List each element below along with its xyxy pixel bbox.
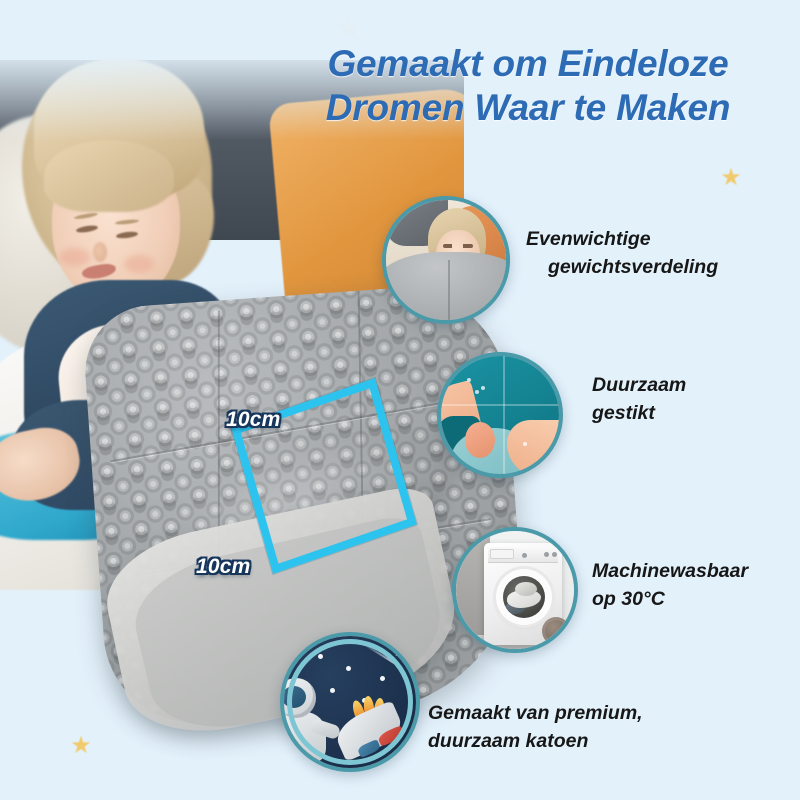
feature-1-line-2: gewichtsverdeling [526,254,718,282]
feature-3-line-2: op 30°C [592,586,748,614]
decorative-star-icon-2: ★ [718,165,744,191]
feature-2-line-1: Duurzaam [592,372,686,400]
feature-label-weight-distribution: Evenwichtige gewichtsverdeling [526,226,718,281]
feature-1-line-1: Evenwichtige [526,226,718,254]
feature-2-line-2: gestikt [592,400,686,428]
infographic-canvas: 10cm 10cm Gemaakt om Eindeloze Dromen Wa… [0,0,800,800]
page-title: Gemaakt om Eindeloze Dromen Waar te Make… [268,42,788,129]
page-title-line-1: Gemaakt om Eindeloze [327,43,728,84]
feature-label-machine-washable: Machinewasbaar op 30°C [592,558,748,613]
feature-label-premium-cotton: Gemaakt van premium, duurzaam katoen [428,700,643,755]
child-nose [93,242,107,262]
child-cheek-left [60,248,90,266]
feature-image-quilted-fabric [437,352,563,478]
dimension-label-bottom: 10cm [196,555,251,579]
dimension-label-top: 10cm [226,408,281,432]
page-title-line-2: Dromen Waar te Maken [268,86,788,130]
feature-label-durable-stitching: Duurzaam gestikt [592,372,686,427]
feature-3-line-1: Machinewasbaar [592,558,748,586]
feature-4-line-1: Gemaakt van premium, [428,700,643,728]
feature-image-washing-machine [452,527,578,653]
feature-image-child-under-blanket [382,196,510,324]
child-hair-fringe [44,140,174,212]
feature-image-space-print-fabric: ★ [280,632,420,772]
child-cheek-right [124,255,154,273]
decorative-star-icon-3: ★ [68,733,94,759]
feature-4-line-2: duurzaam katoen [428,728,643,756]
